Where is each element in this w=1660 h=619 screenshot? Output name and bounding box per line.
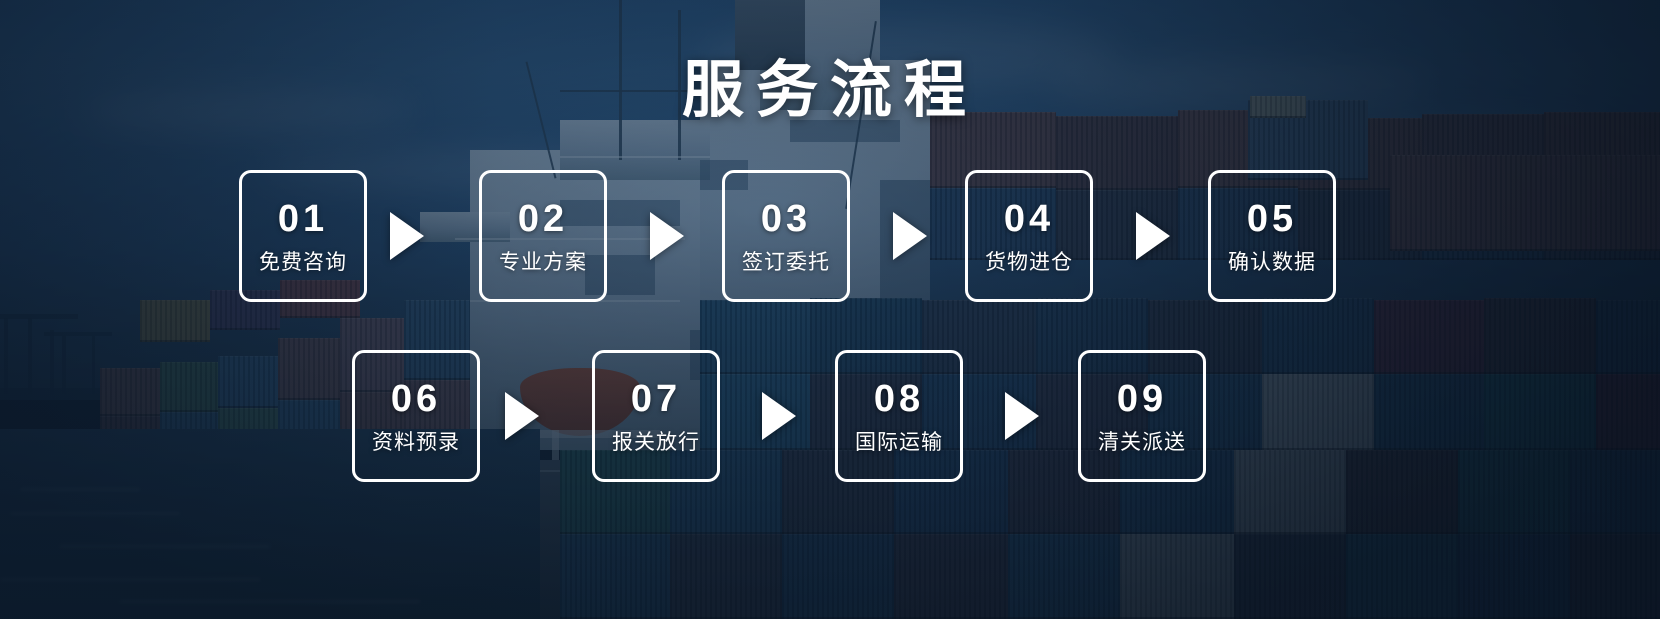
arrow-right-icon (762, 392, 796, 440)
process-step-03[interactable]: 03 签订委托 (722, 170, 850, 302)
step-label: 确认数据 (1228, 252, 1316, 273)
service-process-banner: 服务流程 01 免费咨询 02 专业方案 03 签订委托 04 货物进仓 05 … (0, 0, 1660, 619)
step-label: 报关放行 (612, 432, 700, 453)
arrow-right-icon (1005, 392, 1039, 440)
step-number: 03 (761, 200, 811, 238)
step-number: 07 (631, 380, 681, 418)
arrow-right-icon (505, 392, 539, 440)
process-step-06[interactable]: 06 资料预录 (352, 350, 480, 482)
step-label: 国际运输 (855, 432, 943, 453)
step-label: 签订委托 (742, 252, 830, 273)
step-label: 免费咨询 (259, 252, 347, 273)
step-label: 专业方案 (499, 252, 587, 273)
arrow-right-icon (650, 212, 684, 260)
step-number: 01 (278, 200, 328, 238)
process-step-02[interactable]: 02 专业方案 (479, 170, 607, 302)
process-step-04[interactable]: 04 货物进仓 (965, 170, 1093, 302)
process-step-08[interactable]: 08 国际运输 (835, 350, 963, 482)
arrow-right-icon (1136, 212, 1170, 260)
arrow-right-icon (893, 212, 927, 260)
step-number: 02 (518, 200, 568, 238)
banner-content: 服务流程 01 免费咨询 02 专业方案 03 签订委托 04 货物进仓 05 … (0, 0, 1660, 619)
page-title: 服务流程 (0, 60, 1660, 122)
process-step-01[interactable]: 01 免费咨询 (239, 170, 367, 302)
step-number: 08 (874, 380, 924, 418)
process-step-07[interactable]: 07 报关放行 (592, 350, 720, 482)
step-number: 04 (1004, 200, 1054, 238)
arrow-right-icon (390, 212, 424, 260)
step-label: 资料预录 (372, 432, 460, 453)
process-step-05[interactable]: 05 确认数据 (1208, 170, 1336, 302)
step-label: 清关派送 (1098, 432, 1186, 453)
step-number: 09 (1117, 380, 1167, 418)
step-label: 货物进仓 (985, 252, 1073, 273)
process-step-09[interactable]: 09 清关派送 (1078, 350, 1206, 482)
step-number: 06 (391, 380, 441, 418)
step-number: 05 (1247, 200, 1297, 238)
